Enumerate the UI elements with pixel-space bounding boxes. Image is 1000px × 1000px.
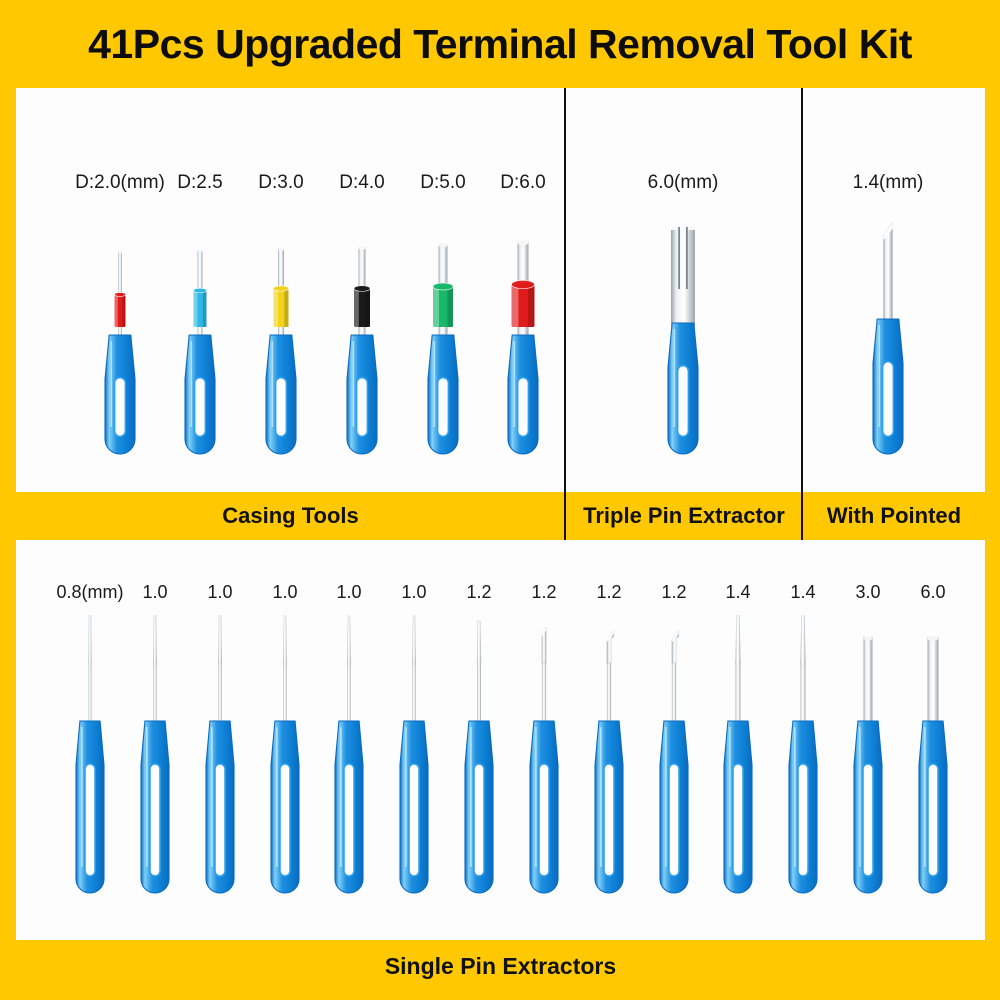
product-infographic: 41Pcs Upgraded Terminal Removal Tool Kit… [0,0,1000,1000]
single-pin-label-13: 3.0 [855,582,880,603]
single-pin-label-2: 1.0 [142,582,167,603]
triple-pin-extractor-tool [648,205,718,465]
single-pin-extractor-10 [642,615,706,915]
triple-pin-label: 6.0(mm) [648,172,719,194]
single-pin-label-1: 0.8(mm) [57,582,124,603]
with-pointed-label: 1.4(mm) [853,172,924,194]
casing-tool-label-2: D:2.5 [177,172,222,194]
single-pin-label-8: 1.2 [531,582,556,603]
single-pin-label-7: 1.2 [466,582,491,603]
casing-tool-label-4: D:4.0 [339,172,384,194]
single-pin-extractor-11 [706,615,770,915]
single-pin-extractor-14 [901,615,965,915]
caption-single-pin-extractors: Single Pin Extractors [16,940,985,992]
single-pin-label-14: 6.0 [920,582,945,603]
single-pin-label-11: 1.4 [725,582,750,603]
single-pin-label-6: 1.0 [401,582,426,603]
single-pin-extractor-6 [382,615,446,915]
single-pin-extractor-3 [188,615,252,915]
caption-row-top: Casing Tools Triple Pin Extractor With P… [0,492,1000,540]
casing-tool-4 [327,205,397,465]
panel-divider-2 [801,88,803,492]
single-pin-label-5: 1.0 [336,582,361,603]
with-pointed-tool [853,205,923,465]
page-title: 41Pcs Upgraded Terminal Removal Tool Kit [88,21,912,68]
casing-tool-label-3: D:3.0 [258,172,303,194]
single-pin-label-3: 1.0 [207,582,232,603]
single-pin-extractor-13 [836,615,900,915]
title-bar: 41Pcs Upgraded Terminal Removal Tool Kit [0,0,1000,88]
casing-tool-2 [165,205,235,465]
casing-tool-1 [85,205,155,465]
single-pin-extractor-12 [771,615,835,915]
casing-tool-6 [488,205,558,465]
casing-tool-5 [408,205,478,465]
casing-tool-label-5: D:5.0 [420,172,465,194]
single-pin-extractor-7 [447,615,511,915]
casing-tool-3 [246,205,316,465]
single-pin-extractor-2 [123,615,187,915]
casing-tool-label-1: D:2.0(mm) [75,172,165,194]
single-pin-label-9: 1.2 [596,582,621,603]
single-pin-label-4: 1.0 [272,582,297,603]
panel-divider-1 [564,88,566,492]
single-pin-extractor-5 [317,615,381,915]
single-pin-extractor-8 [512,615,576,915]
caption-with-pointed: With Pointed [803,492,985,540]
single-pin-extractor-9 [577,615,641,915]
single-pin-extractor-1 [58,615,122,915]
single-pin-extractor-4 [253,615,317,915]
single-pin-label-10: 1.2 [661,582,686,603]
casing-tool-label-6: D:6.0 [500,172,545,194]
caption-triple-pin: Triple Pin Extractor [566,492,802,540]
caption-casing-tools: Casing Tools [16,492,565,540]
single-pin-label-12: 1.4 [790,582,815,603]
